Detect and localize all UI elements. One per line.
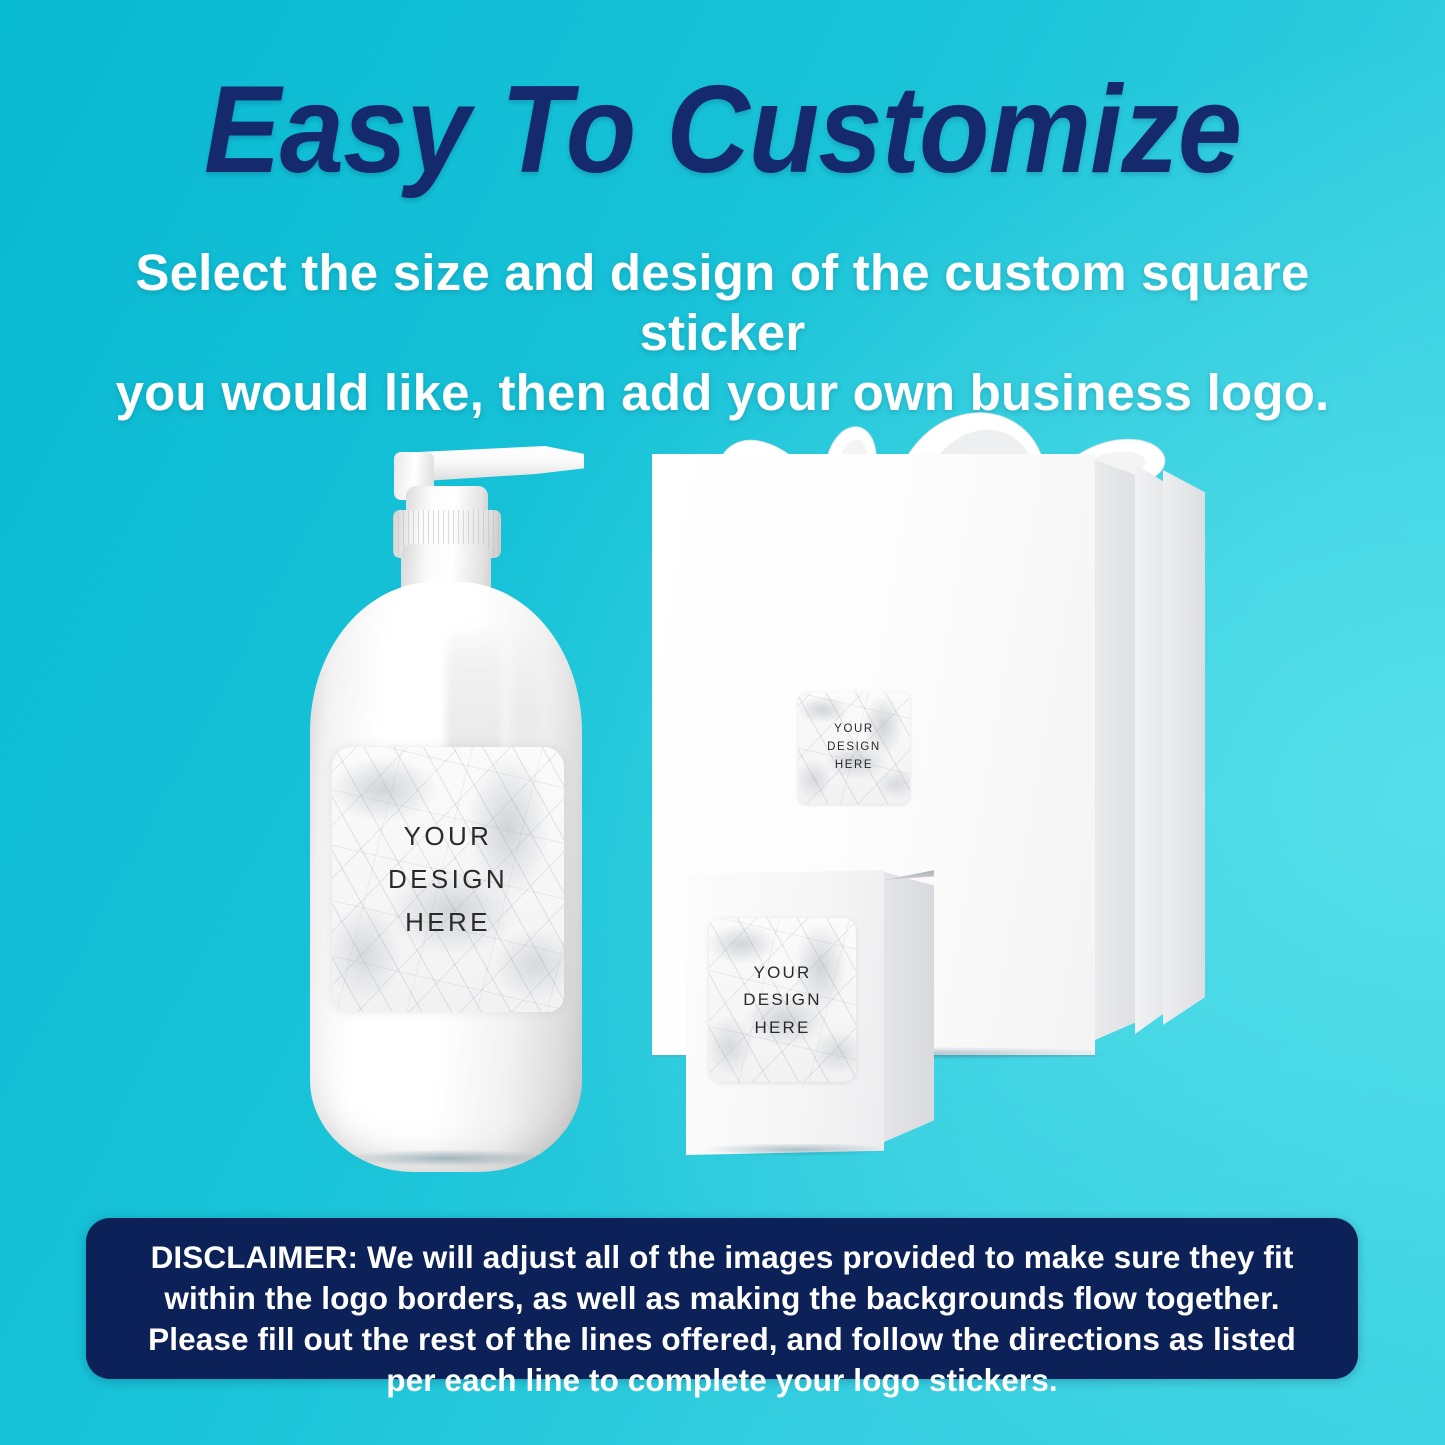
gift-box-sticker: YOUR DESIGN HERE — [798, 692, 910, 804]
pump-nozzle — [408, 446, 584, 482]
promo-graphic: Easy To Customize Select the size and de… — [0, 0, 1445, 1445]
small-box-ground-shadow — [678, 1144, 940, 1160]
bottle-ground-shadow — [302, 1150, 590, 1170]
sticker-line-1: YOUR — [754, 959, 812, 986]
small-box-side-panel — [884, 872, 934, 1142]
gift-box-side-panel — [1095, 460, 1135, 1040]
small-product-box-mockup: YOUR DESIGN HERE — [686, 862, 941, 1162]
sticker-line-3: HERE — [405, 901, 491, 944]
page-title: Easy To Customize — [51, 68, 1395, 192]
sticker-line-3: HERE — [835, 757, 873, 775]
gift-box-back-panel — [1163, 470, 1205, 1025]
gift-box-mid-panel — [1135, 464, 1163, 1034]
disclaimer-label: DISCLAIMER: — [151, 1239, 359, 1275]
sticker-line-2: DESIGN — [827, 739, 881, 757]
sticker-line-2: DESIGN — [743, 986, 821, 1013]
disclaimer-banner: DISCLAIMER: We will adjust all of the im… — [86, 1218, 1358, 1379]
sticker-line-1: YOUR — [404, 815, 493, 858]
subtitle-line-1: Select the size and design of the custom… — [108, 243, 1337, 363]
sticker-line-3: HERE — [754, 1014, 810, 1041]
bottle-label-sticker: YOUR DESIGN HERE — [332, 747, 564, 1012]
disclaimer-text: DISCLAIMER: We will adjust all of the im… — [122, 1237, 1322, 1401]
sticker-line-2: DESIGN — [388, 858, 508, 901]
small-box-sticker: YOUR DESIGN HERE — [709, 918, 856, 1082]
sticker-line-1: YOUR — [834, 721, 874, 739]
pump-bottle-mockup: YOUR DESIGN HERE — [296, 432, 596, 1172]
